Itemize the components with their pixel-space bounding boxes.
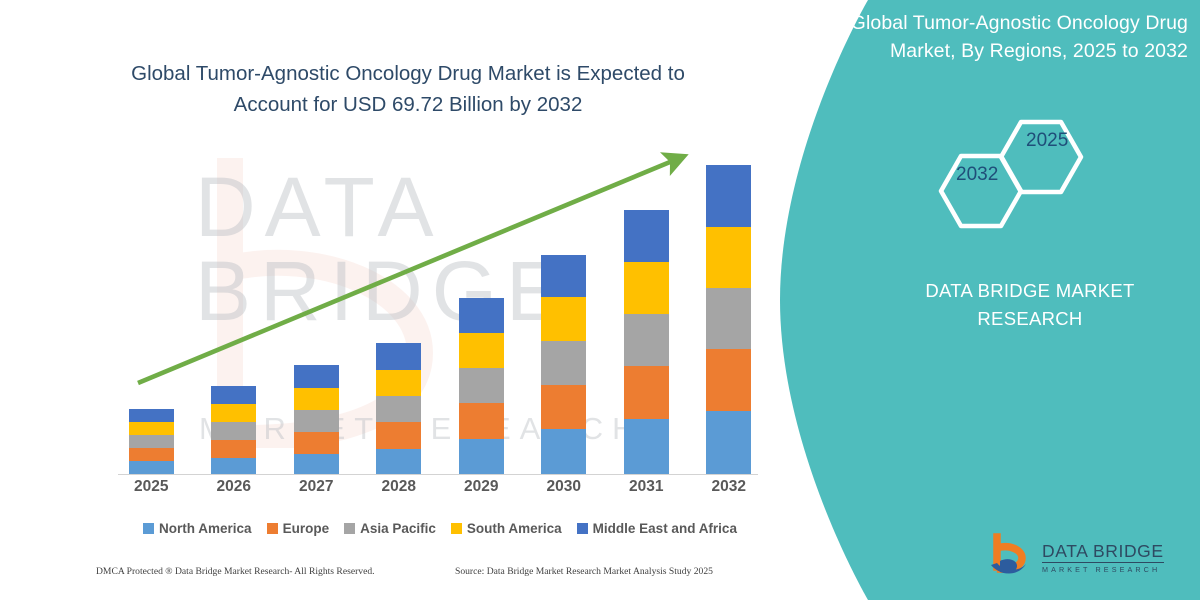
footer-copyright: DMCA Protected ® Data Bridge Market Rese… <box>96 566 375 577</box>
bar-column <box>358 154 441 474</box>
legend-label: South America <box>467 521 562 536</box>
stacked-bar <box>294 365 339 474</box>
bar-segment <box>294 410 339 432</box>
legend-swatch-icon <box>143 523 154 534</box>
bar-segment <box>129 448 174 461</box>
x-axis-tick-label: 2027 <box>275 478 358 502</box>
logo-line-1: DATA BRIDGE <box>1042 541 1164 563</box>
hexagon-group: 2032 2025 <box>928 112 1118 242</box>
x-axis-labels: 20252026202720282029203020312032 <box>110 478 770 502</box>
bar-segment <box>541 297 586 341</box>
bar-segment <box>294 365 339 388</box>
bar-segment <box>129 461 174 474</box>
legend-swatch-icon <box>267 523 278 534</box>
bar-segment <box>459 403 504 439</box>
chart-plot-area <box>110 145 770 475</box>
bar-segment <box>294 388 339 410</box>
legend-label: North America <box>159 521 252 536</box>
bar-segment <box>376 396 421 422</box>
bar-segment <box>541 429 586 474</box>
legend-item[interactable]: South America <box>451 521 562 536</box>
x-axis-tick-label: 2032 <box>688 478 771 502</box>
bar-segment <box>624 262 669 314</box>
bar-column <box>688 154 771 474</box>
legend-swatch-icon <box>344 523 355 534</box>
legend-swatch-icon <box>451 523 462 534</box>
x-axis-tick-label: 2031 <box>605 478 688 502</box>
bar-segment <box>706 227 751 288</box>
bar-segment <box>624 314 669 366</box>
bar-segment <box>294 432 339 454</box>
x-axis-tick-label: 2026 <box>193 478 276 502</box>
bar-group <box>110 154 770 474</box>
bar-column <box>193 154 276 474</box>
x-axis-tick-label: 2029 <box>440 478 523 502</box>
stacked-bar-chart <box>110 140 770 475</box>
bar-segment <box>541 255 586 297</box>
stacked-bar <box>129 409 174 474</box>
bar-segment <box>541 385 586 429</box>
bar-segment <box>376 449 421 474</box>
bar-segment <box>706 411 751 474</box>
stacked-bar <box>624 210 669 474</box>
bar-segment <box>211 404 256 422</box>
bar-segment <box>706 165 751 227</box>
bar-segment <box>376 370 421 396</box>
footer: DMCA Protected ® Data Bridge Market Rese… <box>0 566 830 590</box>
bar-segment <box>211 386 256 404</box>
bar-segment <box>459 368 504 403</box>
x-axis-line <box>118 474 758 475</box>
x-axis-tick-label: 2028 <box>358 478 441 502</box>
bar-segment <box>459 333 504 368</box>
stacked-bar <box>376 343 421 474</box>
legend-label: Asia Pacific <box>360 521 436 536</box>
bar-segment <box>624 210 669 262</box>
legend-label: Middle East and Africa <box>593 521 737 536</box>
bar-segment <box>211 440 256 458</box>
legend-item[interactable]: Europe <box>267 521 330 536</box>
legend-label: Europe <box>283 521 330 536</box>
bar-segment <box>129 409 174 422</box>
footer-source: Source: Data Bridge Market Research Mark… <box>455 566 713 577</box>
page-title: Global Tumor-Agnostic Oncology Drug Mark… <box>96 58 720 120</box>
bar-segment <box>129 422 174 435</box>
infographic-page: DATA BRIDGE MARKET RESEARCH Global Tumor… <box>0 0 1200 600</box>
chart-area: DATA BRIDGE MARKET RESEARCH Global Tumor… <box>0 0 830 600</box>
chart-legend: North AmericaEuropeAsia PacificSouth Ame… <box>110 517 770 539</box>
bar-segment <box>706 349 751 411</box>
bar-column <box>605 154 688 474</box>
hexagon-label-2032: 2032 <box>956 164 998 186</box>
stacked-bar <box>211 386 256 474</box>
bar-segment <box>624 419 669 474</box>
legend-item[interactable]: North America <box>143 521 252 536</box>
data-bridge-logo-mark-icon <box>988 533 1034 579</box>
stacked-bar <box>541 255 586 474</box>
legend-swatch-icon <box>577 523 588 534</box>
bar-segment <box>211 422 256 440</box>
bar-segment <box>129 435 174 448</box>
stacked-bar <box>706 165 751 474</box>
hexagon-label-2025: 2025 <box>1026 130 1068 152</box>
bar-segment <box>376 343 421 370</box>
legend-item[interactable]: Middle East and Africa <box>577 521 737 536</box>
x-axis-tick-label: 2030 <box>523 478 606 502</box>
bar-segment <box>211 458 256 474</box>
bar-column <box>440 154 523 474</box>
bar-segment <box>294 454 339 474</box>
bar-column <box>110 154 193 474</box>
data-bridge-logo-text: DATA BRIDGE MARKET RESEARCH <box>1042 539 1164 573</box>
legend-item[interactable]: Asia Pacific <box>344 521 436 536</box>
stacked-bar <box>459 298 504 474</box>
bar-column <box>275 154 358 474</box>
bar-segment <box>706 288 751 349</box>
data-bridge-logo: DATA BRIDGE MARKET RESEARCH <box>988 530 1188 582</box>
panel-title: Global Tumor-Agnostic Oncology Drug Mark… <box>848 10 1188 65</box>
bar-column <box>523 154 606 474</box>
bar-segment <box>541 341 586 385</box>
brand-caption: DATA BRIDGE MARKET RESEARCH <box>880 277 1180 333</box>
bar-segment <box>459 439 504 474</box>
bar-segment <box>624 366 669 419</box>
bar-segment <box>459 298 504 333</box>
logo-line-2: MARKET RESEARCH <box>1042 566 1164 573</box>
bar-segment <box>376 422 421 449</box>
x-axis-tick-label: 2025 <box>110 478 193 502</box>
